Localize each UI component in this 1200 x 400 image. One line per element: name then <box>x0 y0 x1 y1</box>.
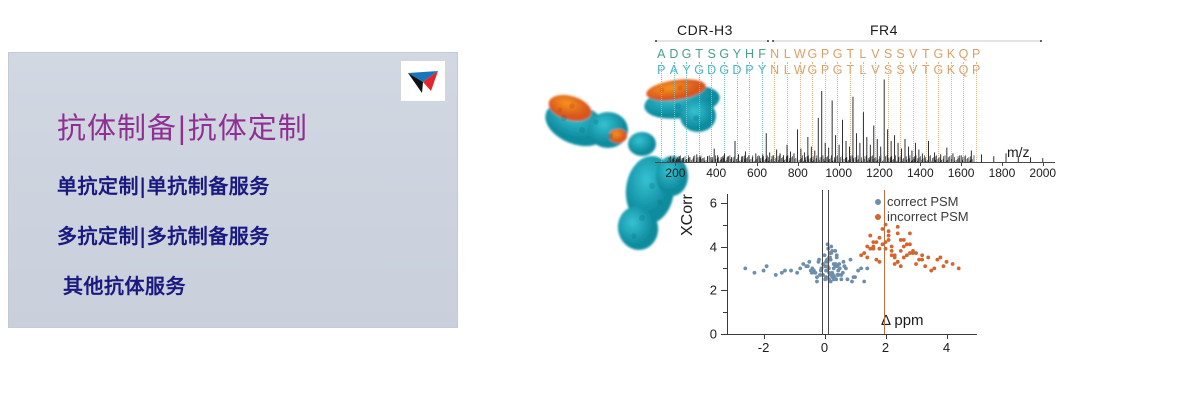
residue: L <box>857 46 870 62</box>
mz-tick-label: 600 <box>747 166 767 180</box>
scatter-y-minor-tick <box>723 268 727 269</box>
scatter-point <box>935 258 939 262</box>
scatter-point <box>783 269 787 273</box>
scatter-point <box>842 264 846 268</box>
scatter-point <box>908 242 912 246</box>
scatter-point <box>862 251 866 255</box>
mz-tick-label: 200 <box>665 166 685 180</box>
scatter-point <box>831 275 835 279</box>
scatter-point <box>899 264 903 268</box>
scatter-point <box>868 234 872 238</box>
legend-label: correct PSM <box>887 194 959 209</box>
scatter-point <box>815 275 819 279</box>
scatter-point <box>859 266 863 270</box>
residue: N <box>768 46 781 62</box>
scatter-point <box>957 266 961 270</box>
scatter-point <box>823 253 827 257</box>
scatter-point <box>929 269 933 273</box>
scatter-point <box>871 245 875 249</box>
legend-entry-correct: correct PSM <box>875 194 969 209</box>
residue: L <box>781 46 794 62</box>
scatter-point <box>852 275 856 279</box>
scatter-point <box>878 236 882 240</box>
scatter-point <box>753 271 757 275</box>
scatter-point <box>829 251 833 255</box>
scatter-point <box>862 280 866 284</box>
scatter-point <box>835 253 839 257</box>
scatter-point <box>832 266 836 270</box>
mz-tick-label: 800 <box>788 166 808 180</box>
scatter-x-tick-label: 2 <box>882 340 889 355</box>
mz-tick <box>879 162 880 166</box>
mz-tick-label: 1000 <box>825 166 852 180</box>
mz-tick <box>798 162 799 166</box>
scatter-point <box>815 280 819 284</box>
residue: T <box>844 46 857 62</box>
scatter-point <box>914 262 918 266</box>
residue: H <box>743 46 756 62</box>
region-label-fr4: FR4 <box>870 22 898 38</box>
scatter-point <box>823 277 827 281</box>
page-title: 抗体制备|抗体定制 <box>57 105 308 147</box>
scatter-point <box>801 262 805 266</box>
scatter-point <box>899 249 903 253</box>
mz-tick-label: 1400 <box>907 166 934 180</box>
scatter-point <box>908 231 912 235</box>
scatter-point <box>890 245 894 249</box>
scatter-point <box>890 249 894 253</box>
scatter-point <box>839 277 843 281</box>
scatter-point <box>865 245 869 249</box>
scatter-point <box>874 240 878 244</box>
scatter-point <box>893 256 897 260</box>
region-bracket-bar <box>655 40 1043 42</box>
scatter-point <box>789 269 793 273</box>
scatter-point <box>842 260 846 264</box>
scatter-reference-line <box>884 190 885 334</box>
scatter-point <box>807 260 811 264</box>
scatter-point <box>804 264 808 268</box>
mz-tick-label: 400 <box>706 166 726 180</box>
scatter-y-tick <box>721 247 727 248</box>
scatter-point <box>833 249 837 253</box>
mz-tick-label: 1600 <box>948 166 975 180</box>
scatter-point <box>837 273 841 277</box>
scatter-point <box>762 269 766 273</box>
residue: S <box>894 46 907 62</box>
scatter-x-tick <box>886 334 887 339</box>
scatter-x-tick <box>825 334 826 339</box>
scatter-point <box>899 238 903 242</box>
mz-tick-label: 1200 <box>866 166 893 180</box>
scatter-x-tick <box>947 334 948 339</box>
residue: S <box>882 46 895 62</box>
scatter-point <box>896 260 900 264</box>
scatter-point <box>798 266 802 270</box>
psm-scatter-chart: XCorr Δ ppm correct PSMincorrect PSM 046… <box>685 190 1015 365</box>
scatter-point <box>951 262 955 266</box>
mz-tick-label: 1800 <box>989 166 1016 180</box>
scatter-y-tick <box>721 334 727 335</box>
mz-tick <box>757 162 758 166</box>
scatter-reference-line <box>828 190 829 334</box>
scatter-point <box>865 266 869 270</box>
scatter-x-tick-label: 4 <box>943 340 950 355</box>
scatter-point <box>834 262 838 266</box>
scatter-point <box>743 266 747 270</box>
mass-spectrum-chart: m/z 200400600800100012001400160018002000 <box>655 62 1055 170</box>
legend-entry-incorrect: incorrect PSM <box>875 209 969 224</box>
spectrum-x-axis <box>655 162 1055 163</box>
scatter-x-tick-label: 0 <box>821 340 828 355</box>
spectrum-peaks <box>655 62 1055 162</box>
scatter-point <box>942 264 946 268</box>
scatter-point <box>765 264 769 268</box>
residue: G <box>806 46 819 62</box>
residue: F <box>756 46 769 62</box>
scatter-point <box>923 264 927 268</box>
residue: G <box>680 46 693 62</box>
mz-tick <box>716 162 717 166</box>
scatter-y-tick-label: 6 <box>693 195 717 210</box>
scatter-legend: correct PSMincorrect PSM <box>875 194 969 224</box>
promo-panel: 抗体制备|抗体定制 单抗定制|单抗制备服务 多抗定制|多抗制备服务 其他抗体服务 <box>8 52 458 328</box>
scatter-y-tick-label: 2 <box>693 283 717 298</box>
residue: A <box>655 46 668 62</box>
scatter-point <box>896 225 900 229</box>
residue: T <box>919 46 932 62</box>
scatter-point <box>780 271 784 275</box>
scatter-point <box>887 238 891 242</box>
scatter-point <box>856 269 860 273</box>
scatter-point <box>887 229 891 233</box>
scatter-point <box>830 271 834 275</box>
residue: G <box>831 46 844 62</box>
residue: V <box>907 46 920 62</box>
residue: P <box>970 46 983 62</box>
chevron-logo-icon <box>401 61 445 101</box>
scatter-y-tick <box>721 203 727 204</box>
scatter-point <box>795 271 799 275</box>
promo-link-other-services[interactable]: 其他抗体服务 <box>63 270 186 299</box>
scatter-point <box>939 256 943 260</box>
scatter-point <box>774 273 778 277</box>
scatter-x-axis-label: Δ ppm <box>881 312 924 329</box>
scatter-point <box>917 258 921 262</box>
mz-tick-label: 2000 <box>1029 166 1056 180</box>
legend-label: incorrect PSM <box>887 209 969 224</box>
scatter-y-tick-label: 4 <box>693 239 717 254</box>
scatter-point <box>890 253 894 257</box>
legend-marker-icon <box>875 214 881 220</box>
residue: P <box>819 46 832 62</box>
sequence-row-top: ADGTSGYHFNLWGPGTLVSSVTGKQP <box>655 46 982 62</box>
scatter-point <box>902 245 906 249</box>
scatter-y-minor-tick <box>723 290 727 291</box>
scatter-y-tick-label: 0 <box>693 327 717 342</box>
spectrum-x-axis-label: m/z <box>1007 144 1030 160</box>
scatter-y-minor-tick <box>723 312 727 313</box>
scatter-point <box>896 231 900 235</box>
scatter-reference-line <box>822 190 823 334</box>
residue: T <box>693 46 706 62</box>
residue: Y <box>731 46 744 62</box>
residue: G <box>932 46 945 62</box>
scatter-point <box>874 258 878 262</box>
scatter-point <box>945 260 949 264</box>
scatter-point <box>846 277 850 281</box>
mz-tick <box>1043 162 1044 166</box>
scatter-x-tick-label: -2 <box>758 340 770 355</box>
scatter-y-minor-tick <box>723 225 727 226</box>
scatter-point <box>865 256 869 260</box>
legend-marker-icon <box>875 199 881 205</box>
residue: V <box>869 46 882 62</box>
residue: K <box>945 46 958 62</box>
scatter-point <box>926 256 930 260</box>
residue: D <box>668 46 681 62</box>
scientific-figure: CDR-H3 FR4 ADGTSGYHFNLWGPGTLVSSVTGKQP PA… <box>520 0 1080 400</box>
scatter-point <box>850 280 854 284</box>
scatter-point <box>829 245 833 249</box>
residue: G <box>718 46 731 62</box>
chevron-logo-svg <box>401 61 445 101</box>
residue: W <box>794 46 807 62</box>
region-label-cdr-h3: CDR-H3 <box>677 22 733 38</box>
scatter-point <box>849 258 853 262</box>
scatter-point <box>859 253 863 257</box>
scatter-point <box>887 234 891 238</box>
scatter-point <box>920 253 924 257</box>
residue: S <box>705 46 718 62</box>
scatter-point <box>932 266 936 270</box>
scatter-point <box>902 256 906 260</box>
mz-tick <box>961 162 962 166</box>
promo-link-polyclonal[interactable]: 多抗定制|多抗制备服务 <box>57 220 270 249</box>
mz-tick <box>1002 162 1003 166</box>
scatter-point <box>905 253 909 257</box>
scatter-point <box>878 260 882 264</box>
residue: Q <box>957 46 970 62</box>
scatter-point <box>878 247 882 251</box>
scatter-point <box>911 251 915 255</box>
scatter-point <box>893 262 897 266</box>
scatter-x-tick <box>764 334 765 339</box>
mz-tick <box>839 162 840 166</box>
mz-tick <box>920 162 921 166</box>
scatter-point <box>817 258 821 262</box>
mz-tick <box>675 162 676 166</box>
scatter-point <box>810 271 814 275</box>
promo-link-monoclonal[interactable]: 单抗定制|单抗制备服务 <box>57 170 270 199</box>
